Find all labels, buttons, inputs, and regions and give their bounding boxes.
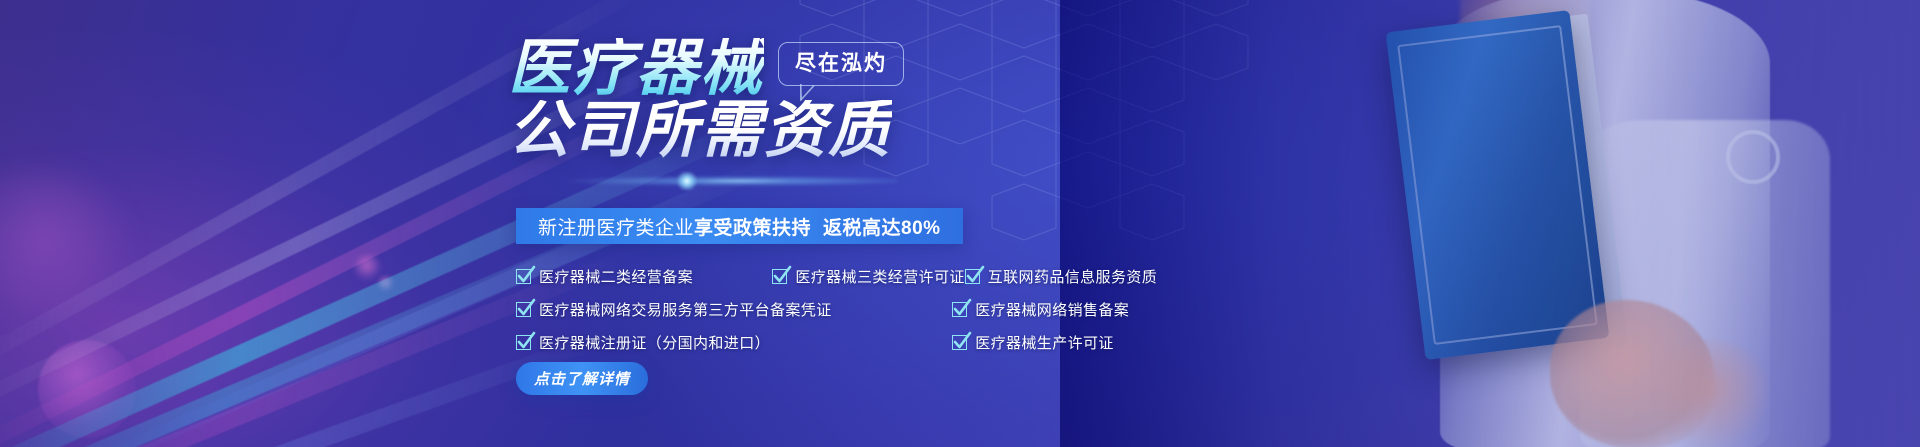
headline-secondary: 公司所需资质 [508,100,892,162]
tagline-emphasis: 享受政策扶持 [694,213,811,240]
checkmark-icon [772,269,787,284]
checklist-item[interactable]: 医疗器械三类经营许可证 [772,266,964,287]
checklist-item[interactable]: 互联网药品信息服务资质 [965,266,1157,287]
checklist-row: 医疗器械二类经营备案 医疗器械三类经营许可证 [516,260,1206,293]
headline-primary: 医疗器械 [508,38,764,100]
checkmark-icon [965,269,980,284]
checklist-item-label: 互联网药品信息服务资质 [988,266,1157,287]
stethoscope-icon [1726,130,1780,184]
photo-hand-lower [1650,340,1770,447]
promo-banner: 医疗器械 尽在泓灼 公司所需资质 新注册医疗类企业享受政策扶持返税高达80% [0,0,1920,447]
qualification-checklist: 医疗器械二类经营备案 医疗器械三类经营许可证 [516,260,1206,359]
checklist-item[interactable]: 医疗器械二类经营备案 [516,266,693,287]
checklist-item[interactable]: 医疗器械注册证（分国内和进口） [516,332,770,353]
headline-glow-streak [568,176,898,186]
checklist-item-label: 医疗器械生产许可证 [975,332,1114,353]
checklist-row: 医疗器械注册证（分国内和进口） 医疗器械生产许可证 [516,326,1206,359]
headline-row: 医疗器械 尽在泓灼 [508,38,904,100]
checklist-item-label: 医疗器械网络交易服务第三方平台备案凭证 [539,299,832,320]
checklist-item-label: 医疗器械二类经营备案 [539,266,693,287]
checklist-item-label: 医疗器械网络销售备案 [975,299,1129,320]
checkmark-icon [952,335,967,350]
checkmark-icon [516,269,531,284]
brand-badge: 尽在泓灼 [778,42,904,86]
photo-folder-edge [1562,14,1629,350]
tagline-prefix: 新注册医疗类企业 [538,213,694,240]
checklist-item[interactable]: 医疗器械网络交易服务第三方平台备案凭证 [516,299,832,320]
photo-hand [1550,300,1715,447]
checklist-item[interactable]: 医疗器械生产许可证 [952,332,1114,353]
photo-neck [1460,0,1590,80]
photo-lab-coat [1440,0,1770,447]
checklist-item-label: 医疗器械注册证（分国内和进口） [539,332,770,353]
photo-lab-coat-fold [1580,120,1830,447]
banner-content: 医疗器械 尽在泓灼 公司所需资质 新注册医疗类企业享受政策扶持返税高达80% [508,0,1308,447]
headline-glow-dot [676,172,698,190]
checkmark-icon [516,302,531,317]
decorative-dot-a [355,255,381,281]
checklist-row: 医疗器械网络交易服务第三方平台备案凭证 医疗器械网络销售备案 [516,293,1206,326]
brand-badge-label: 尽在泓灼 [795,52,887,75]
decorative-dot-b [378,276,394,292]
decorative-circle-purple [38,340,136,438]
learn-more-button[interactable]: 点击了解详情 [516,362,648,395]
decorative-glow-large [0,170,130,320]
tagline-strip: 新注册医疗类企业享受政策扶持返税高达80% [516,208,963,244]
checklist-item-label: 医疗器械三类经营许可证 [795,266,964,287]
checklist-item[interactable]: 医疗器械网络销售备案 [952,299,1129,320]
checkmark-icon [516,335,531,350]
checkmark-icon [952,302,967,317]
photo-blue-folder [1386,10,1610,360]
tagline-suffix: 返税高达80% [823,213,941,240]
